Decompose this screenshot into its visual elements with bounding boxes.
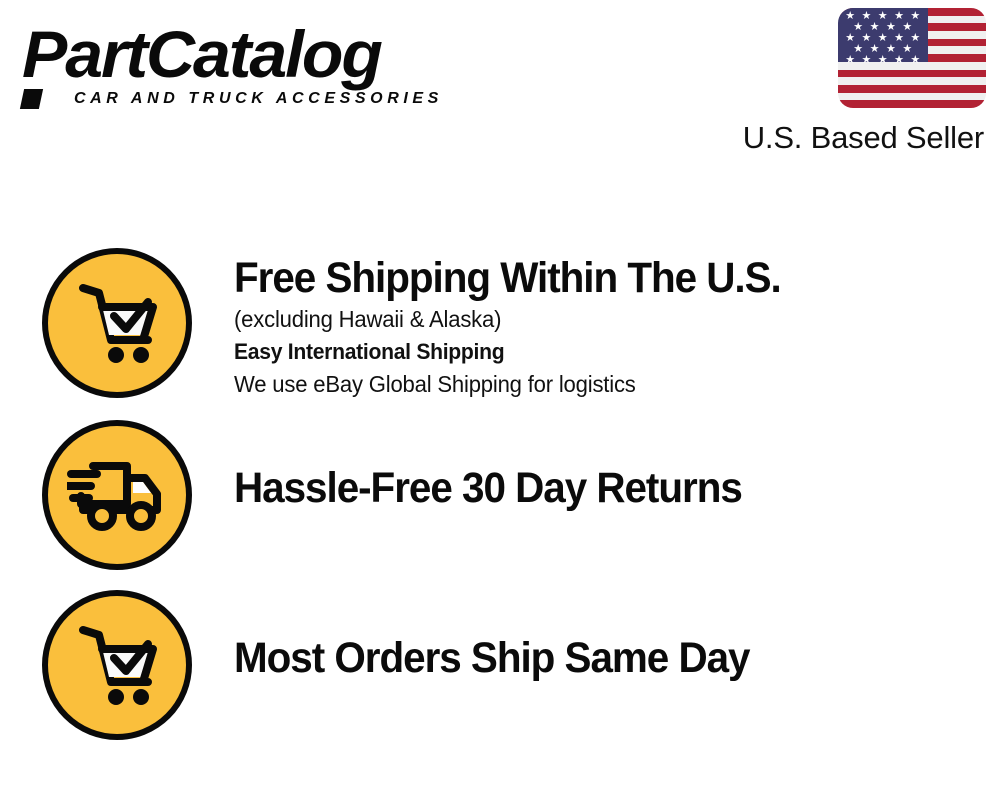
flag-stripe <box>838 77 986 85</box>
feature-subtitle-international: Easy International Shipping <box>234 335 969 369</box>
flag-stripe <box>838 85 986 93</box>
feature-subtitle-exclusions: (excluding Hawaii & Alaska) <box>234 304 969 335</box>
feature-title: Free Shipping Within The U.S. <box>234 252 954 304</box>
banner-header: PartCatalog CAR AND TRUCK ACCESSORIES <box>0 0 1000 175</box>
feature-subtitle-logistics: We use eBay Global Shipping for logistic… <box>234 369 969 400</box>
flag-stripe <box>838 100 986 108</box>
feature-row-same-day: Most Orders Ship Same Day <box>0 590 1000 740</box>
feature-title: Hassle-Free 30 Day Returns <box>234 462 954 514</box>
feature-text-returns: Hassle-Free 30 Day Returns <box>192 420 1000 514</box>
seller-origin-block: ★ ★ ★ ★ ★ ★ ★ ★ ★ ★ ★ ★ <box>716 8 986 155</box>
brand-logo: PartCatalog CAR AND TRUCK ACCESSORIES <box>22 20 492 111</box>
brand-tagline: CAR AND TRUCK ACCESSORIES <box>74 90 443 107</box>
flag-star: ★ <box>878 55 888 66</box>
shopping-cart-check-icon <box>42 248 192 398</box>
flag-stripe <box>838 70 986 78</box>
brand-name: PartCatalog <box>22 20 506 88</box>
flag-canton: ★ ★ ★ ★ ★ ★ ★ ★ ★ ★ ★ ★ <box>838 8 928 62</box>
feature-text-free-shipping: Free Shipping Within The U.S. (excluding… <box>192 248 1000 400</box>
flag-star: ★ <box>894 55 904 66</box>
feature-row-returns: Hassle-Free 30 Day Returns <box>0 420 1000 570</box>
logo-accent-mark <box>20 89 43 109</box>
shopping-cart-check-icon <box>42 590 192 740</box>
us-flag-icon: ★ ★ ★ ★ ★ ★ ★ ★ ★ ★ ★ ★ <box>838 8 986 108</box>
feature-title: Most Orders Ship Same Day <box>234 632 954 684</box>
delivery-truck-icon <box>42 420 192 570</box>
promo-banner: PartCatalog CAR AND TRUCK ACCESSORIES <box>0 0 1000 800</box>
flag-star: ★ <box>862 55 872 66</box>
brand-tagline-row: CAR AND TRUCK ACCESSORIES <box>22 89 492 111</box>
flag-star: ★ <box>845 55 855 66</box>
flag-star: ★ <box>910 55 920 66</box>
seller-origin-label: U.S. Based Seller <box>716 121 984 155</box>
flag-star-row: ★ ★ ★ ★ ★ <box>842 55 924 66</box>
feature-text-same-day: Most Orders Ship Same Day <box>192 590 1000 684</box>
flag-stripe <box>838 93 986 101</box>
feature-row-free-shipping: Free Shipping Within The U.S. (excluding… <box>0 248 1000 400</box>
